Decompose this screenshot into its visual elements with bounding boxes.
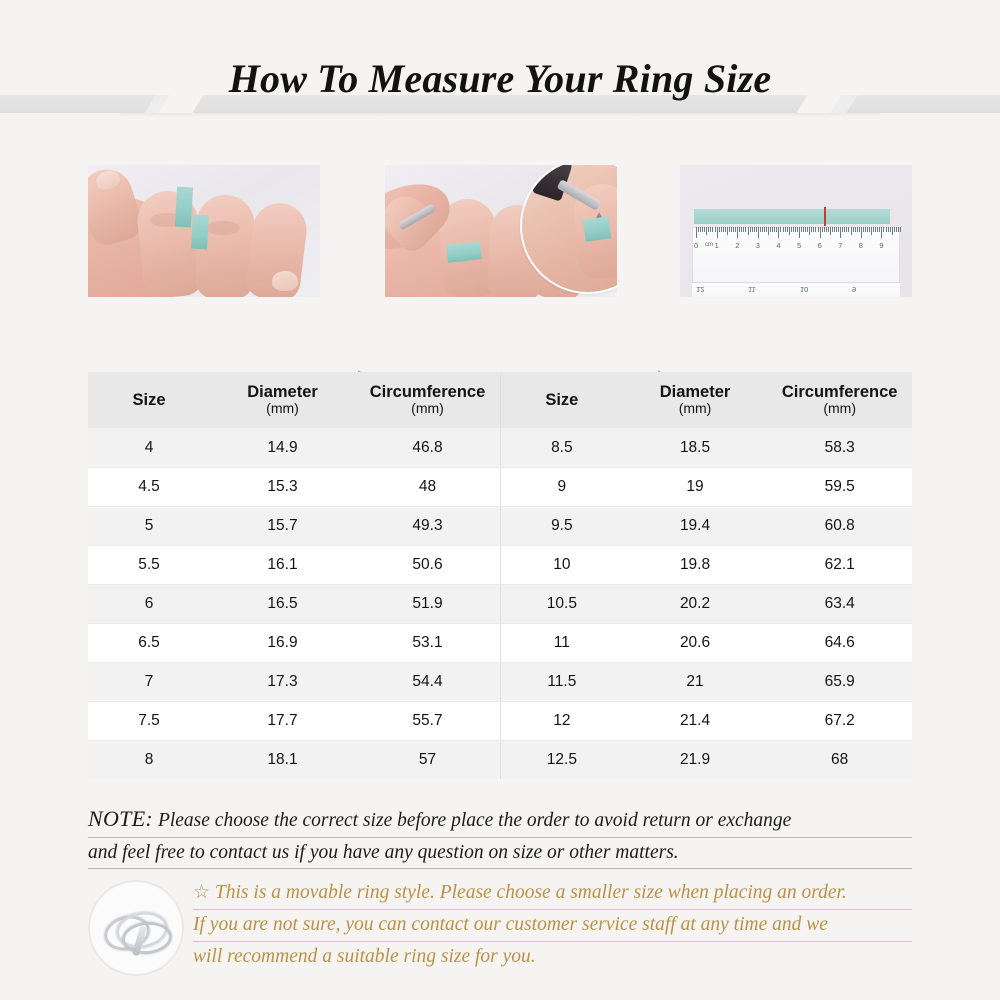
ring-size-table: Size Diameter (mm) Circumference (mm) Si… bbox=[88, 372, 912, 779]
cell-size: 4.5 bbox=[88, 468, 210, 506]
ruler-tick bbox=[883, 227, 884, 232]
cell-circumference: 64.6 bbox=[767, 624, 912, 662]
cell-diameter: 21 bbox=[623, 663, 768, 701]
banner-shadow bbox=[120, 113, 880, 118]
ruler-tick bbox=[873, 227, 874, 232]
ruler-tick bbox=[727, 227, 728, 235]
ruler-tick bbox=[890, 227, 891, 232]
ruler-tick bbox=[799, 227, 800, 238]
ruler-tick bbox=[774, 227, 775, 232]
ruler-tick bbox=[715, 227, 716, 232]
ruler-number-bottom: 11 bbox=[748, 285, 756, 294]
cell-circumference: 50.6 bbox=[355, 546, 500, 584]
row-half-right: 8.518.558.3 bbox=[500, 428, 912, 467]
cell-diameter: 21.4 bbox=[623, 702, 768, 740]
cell-diameter: 20.6 bbox=[623, 624, 768, 662]
ruler-tick bbox=[739, 227, 740, 232]
ruler-tick bbox=[813, 227, 814, 232]
ruler-number: 8 bbox=[859, 241, 863, 250]
cell-circumference: 60.8 bbox=[767, 507, 912, 545]
warning-text-1: This is a movable ring style. Please cho… bbox=[210, 882, 847, 903]
ruler-number: 2 bbox=[735, 241, 739, 250]
instruction-photos: 0123456789cm1211109 bbox=[0, 125, 1000, 345]
ruler-tick bbox=[877, 227, 878, 232]
cell-diameter: 16.9 bbox=[210, 624, 355, 662]
cell-diameter: 16.1 bbox=[210, 546, 355, 584]
cell-diameter: 20.2 bbox=[623, 585, 768, 623]
table-row: 515.749.39.519.460.8 bbox=[88, 506, 912, 545]
cell-size: 8.5 bbox=[501, 428, 623, 467]
ruler-top bbox=[692, 227, 900, 283]
cell-circumference: 59.5 bbox=[767, 468, 912, 506]
ring-product-thumbnail bbox=[88, 880, 184, 976]
cell-size: 7.5 bbox=[88, 702, 210, 740]
ruler-tick bbox=[750, 227, 751, 232]
warning-line-2: If you are not sure, you can contact our… bbox=[193, 910, 912, 942]
cell-diameter: 18.5 bbox=[623, 428, 768, 467]
warning-text: ☆ This is a movable ring style. Please c… bbox=[193, 878, 912, 974]
star-icon: ☆ bbox=[193, 882, 210, 903]
ruler-tick bbox=[772, 227, 773, 232]
cell-circumference: 54.4 bbox=[355, 663, 500, 701]
ruler-tick bbox=[809, 227, 810, 235]
cell-size: 5 bbox=[88, 507, 210, 545]
warning-line-1: ☆ This is a movable ring style. Please c… bbox=[193, 878, 912, 910]
row-half-right: 9.519.460.8 bbox=[500, 507, 912, 545]
row-half-left: 7.517.755.7 bbox=[88, 702, 500, 740]
ruler-tick bbox=[879, 227, 880, 232]
ruler-tick bbox=[797, 227, 798, 232]
step-2-photo-mark-strip bbox=[385, 165, 617, 297]
header-diameter: Diameter (mm) bbox=[210, 372, 355, 428]
ruler-tick bbox=[733, 227, 734, 232]
cell-size: 12.5 bbox=[501, 741, 623, 779]
ruler-tick bbox=[776, 227, 777, 232]
ruler-tick bbox=[865, 227, 866, 232]
row-half-right: 10.520.263.4 bbox=[500, 585, 912, 623]
ruler-tick bbox=[836, 227, 837, 232]
ruler-tick bbox=[789, 227, 790, 235]
ruler-tick bbox=[842, 227, 843, 232]
cell-size: 11.5 bbox=[501, 663, 623, 701]
cell-size: 4 bbox=[88, 428, 210, 467]
ruler-tick bbox=[894, 227, 895, 232]
cell-circumference: 58.3 bbox=[767, 428, 912, 467]
ruler-tick bbox=[846, 227, 847, 232]
ruler-tick bbox=[708, 227, 709, 232]
ruler-tick bbox=[824, 227, 825, 232]
ruler-number: 0 bbox=[694, 241, 698, 250]
note-text-1: Please choose the correct size before pl… bbox=[153, 810, 791, 831]
cell-size: 9.5 bbox=[501, 507, 623, 545]
header-diameter: Diameter (mm) bbox=[623, 372, 768, 428]
row-half-right: 12.521.968 bbox=[500, 741, 912, 779]
page-title: How To Measure Your Ring Size bbox=[0, 55, 1000, 102]
ruler-tick bbox=[752, 227, 753, 232]
ruler-tick bbox=[756, 227, 757, 232]
cell-size: 7 bbox=[88, 663, 210, 701]
ruler-number: 5 bbox=[797, 241, 801, 250]
cell-size: 10 bbox=[501, 546, 623, 584]
header-half-left: Size Diameter (mm) Circumference (mm) bbox=[88, 372, 500, 428]
ruler-tick bbox=[731, 227, 732, 232]
ruler-tick bbox=[702, 227, 703, 232]
ruler-tick bbox=[785, 227, 786, 232]
ruler-tick bbox=[768, 227, 769, 235]
warning-block: ☆ This is a movable ring style. Please c… bbox=[88, 878, 912, 986]
cell-circumference: 51.9 bbox=[355, 585, 500, 623]
note-line-1: NOTE: Please choose the correct size bef… bbox=[88, 802, 912, 838]
ruler-tick bbox=[857, 227, 858, 232]
cell-circumference: 65.9 bbox=[767, 663, 912, 701]
ruler-tick bbox=[818, 227, 819, 232]
cell-size: 6 bbox=[88, 585, 210, 623]
ruler-tick bbox=[886, 227, 887, 232]
ruler-tick bbox=[855, 227, 856, 232]
row-half-left: 818.157 bbox=[88, 741, 500, 779]
ruler-number: 7 bbox=[838, 241, 842, 250]
ruler-tick bbox=[700, 227, 701, 232]
cell-size: 9 bbox=[501, 468, 623, 506]
header-size: Size bbox=[88, 372, 210, 428]
ruler-tick bbox=[793, 227, 794, 232]
cell-circumference: 63.4 bbox=[767, 585, 912, 623]
red-measure-mark bbox=[824, 207, 826, 226]
ruler-tick bbox=[834, 227, 835, 232]
cell-diameter: 15.7 bbox=[210, 507, 355, 545]
ruler-tick bbox=[900, 227, 901, 232]
nail-pinky bbox=[272, 271, 298, 291]
cell-circumference: 55.7 bbox=[355, 702, 500, 740]
row-half-right: 1120.664.6 bbox=[500, 624, 912, 662]
ruler-tick bbox=[766, 227, 767, 232]
ruler-unit-label: cm bbox=[705, 242, 713, 248]
table-body: 414.946.88.518.558.34.515.34891959.5515.… bbox=[88, 428, 912, 779]
ruler-tick bbox=[871, 227, 872, 235]
ruler-tick bbox=[820, 227, 821, 238]
ruler-tick bbox=[712, 227, 713, 232]
ruler-tick bbox=[764, 227, 765, 232]
ruler-number: 3 bbox=[756, 241, 760, 250]
paper-strip bbox=[446, 241, 482, 262]
header-half-right: Size Diameter (mm) Circumference (mm) bbox=[500, 372, 912, 428]
ruler-tick bbox=[869, 227, 870, 232]
cell-size: 10.5 bbox=[501, 585, 623, 623]
cell-circumference: 53.1 bbox=[355, 624, 500, 662]
ruler-bottom bbox=[692, 283, 900, 297]
ruler-tick bbox=[725, 227, 726, 232]
ruler-tick bbox=[748, 227, 749, 235]
cell-circumference: 57 bbox=[355, 741, 500, 779]
ruler-tick bbox=[888, 227, 889, 232]
ruler-tick bbox=[815, 227, 816, 232]
ruler-tick bbox=[853, 227, 854, 232]
ruler-tick bbox=[840, 227, 841, 238]
ruler-tick bbox=[791, 227, 792, 232]
header-circumference: Circumference (mm) bbox=[767, 372, 912, 428]
ring-size-guide-page: How To Measure Your Ring Size bbox=[0, 0, 1000, 1000]
cell-diameter: 21.9 bbox=[623, 741, 768, 779]
ruler-tick bbox=[698, 227, 699, 232]
table-row: 4.515.34891959.5 bbox=[88, 467, 912, 506]
ruler-tick bbox=[861, 227, 862, 238]
paper-strip-lower bbox=[191, 215, 209, 250]
cell-diameter: 17.3 bbox=[210, 663, 355, 701]
ruler-tick bbox=[778, 227, 779, 238]
ruler-tick bbox=[770, 227, 771, 232]
cell-circumference: 49.3 bbox=[355, 507, 500, 545]
ruler-tick bbox=[704, 227, 705, 232]
ruler-tick bbox=[741, 227, 742, 232]
row-half-right: 11.52165.9 bbox=[500, 663, 912, 701]
ruler-tick bbox=[896, 227, 897, 232]
row-half-right: 1019.862.1 bbox=[500, 546, 912, 584]
ruler-tick bbox=[830, 227, 831, 235]
row-half-left: 6.516.953.1 bbox=[88, 624, 500, 662]
note-lead: NOTE: bbox=[88, 806, 153, 831]
cell-diameter: 15.3 bbox=[210, 468, 355, 506]
header-size: Size bbox=[501, 372, 623, 428]
note-line-2: and feel free to contact us if you have … bbox=[88, 838, 912, 870]
ruler-number: 6 bbox=[818, 241, 822, 250]
ruler-tick bbox=[881, 227, 882, 238]
ruler-tick bbox=[851, 227, 852, 235]
ruler-number-bottom: 9 bbox=[852, 285, 856, 294]
ruler-tick bbox=[717, 227, 718, 238]
ruler-tick bbox=[805, 227, 806, 232]
cell-circumference: 68 bbox=[767, 741, 912, 779]
ruler-number-bottom: 12 bbox=[696, 285, 704, 294]
ruler-tick bbox=[867, 227, 868, 232]
cell-size: 11 bbox=[501, 624, 623, 662]
cell-size: 12 bbox=[501, 702, 623, 740]
table-row: 717.354.411.52165.9 bbox=[88, 662, 912, 701]
cell-circumference: 62.1 bbox=[767, 546, 912, 584]
ruler-tick bbox=[758, 227, 759, 238]
ruler-tick bbox=[828, 227, 829, 232]
cell-circumference: 46.8 bbox=[355, 428, 500, 467]
cell-diameter: 18.1 bbox=[210, 741, 355, 779]
ruler-tick bbox=[737, 227, 738, 238]
table-row: 7.517.755.71221.467.2 bbox=[88, 701, 912, 740]
ruler-number-bottom: 10 bbox=[800, 285, 808, 294]
step-1-photo-wrap-strip bbox=[88, 165, 320, 297]
row-half-right: 1221.467.2 bbox=[500, 702, 912, 740]
ruler-tick bbox=[787, 227, 788, 232]
row-half-right: 91959.5 bbox=[500, 468, 912, 506]
row-half-left: 616.551.9 bbox=[88, 585, 500, 623]
cell-diameter: 14.9 bbox=[210, 428, 355, 467]
ruler-tick bbox=[838, 227, 839, 232]
row-half-left: 414.946.8 bbox=[88, 428, 500, 467]
cell-diameter: 17.7 bbox=[210, 702, 355, 740]
cell-size: 5.5 bbox=[88, 546, 210, 584]
ruler-tick bbox=[723, 227, 724, 232]
ruler-tick bbox=[826, 227, 827, 232]
ruler-tick bbox=[844, 227, 845, 232]
cell-circumference: 48 bbox=[355, 468, 500, 506]
ruler-tick bbox=[859, 227, 860, 232]
ruler-tick bbox=[783, 227, 784, 232]
cell-diameter: 19 bbox=[623, 468, 768, 506]
ruler-tick bbox=[754, 227, 755, 232]
table-row: 5.516.150.61019.862.1 bbox=[88, 545, 912, 584]
cell-circumference: 67.2 bbox=[767, 702, 912, 740]
ruler-tick bbox=[743, 227, 744, 232]
ruler-number: 4 bbox=[776, 241, 780, 250]
row-half-left: 515.749.3 bbox=[88, 507, 500, 545]
ruler-tick bbox=[832, 227, 833, 232]
ruler-tick bbox=[719, 227, 720, 232]
ruler-tick bbox=[696, 227, 697, 238]
ruler-number: 1 bbox=[715, 241, 719, 250]
note-block: NOTE: Please choose the correct size bef… bbox=[88, 802, 912, 869]
row-half-left: 4.515.348 bbox=[88, 468, 500, 506]
step-3-photo-measure-ruler: 0123456789cm1211109 bbox=[680, 165, 912, 297]
ruler-tick bbox=[721, 227, 722, 232]
ruler-tick bbox=[780, 227, 781, 232]
ruler-tick bbox=[875, 227, 876, 232]
knuckle-2 bbox=[206, 221, 240, 235]
cell-diameter: 19.4 bbox=[623, 507, 768, 545]
table-row: 616.551.910.520.263.4 bbox=[88, 584, 912, 623]
table-header-row: Size Diameter (mm) Circumference (mm) Si… bbox=[88, 372, 912, 428]
measured-strip bbox=[694, 209, 890, 224]
ruler-tick bbox=[807, 227, 808, 232]
ruler-tick bbox=[762, 227, 763, 232]
ruler-tick bbox=[803, 227, 804, 232]
ruler-tick bbox=[745, 227, 746, 232]
paper-strip-upper bbox=[175, 187, 193, 228]
cell-size: 8 bbox=[88, 741, 210, 779]
ruler-tick bbox=[848, 227, 849, 232]
ruler-tick bbox=[795, 227, 796, 232]
cell-diameter: 19.8 bbox=[623, 546, 768, 584]
ruler-tick bbox=[801, 227, 802, 232]
ruler-tick bbox=[892, 227, 893, 235]
table-row: 6.516.953.11120.664.6 bbox=[88, 623, 912, 662]
ruler-tick bbox=[760, 227, 761, 232]
ruler-tick bbox=[710, 227, 711, 232]
mag-paper-strip bbox=[583, 216, 612, 241]
ruler-number: 9 bbox=[879, 241, 883, 250]
row-half-left: 5.516.150.6 bbox=[88, 546, 500, 584]
cell-diameter: 16.5 bbox=[210, 585, 355, 623]
ruler-tick bbox=[898, 227, 899, 232]
ruler-tick bbox=[735, 227, 736, 232]
ruler-tick bbox=[706, 227, 707, 235]
header-circumference: Circumference (mm) bbox=[355, 372, 500, 428]
table-row: 818.15712.521.968 bbox=[88, 740, 912, 779]
ruler-tick bbox=[811, 227, 812, 232]
ruler-tick bbox=[822, 227, 823, 232]
ruler-tick bbox=[863, 227, 864, 232]
ruler-tick bbox=[729, 227, 730, 232]
warning-line-3: will recommend a suitable ring size for … bbox=[193, 942, 912, 973]
row-half-left: 717.354.4 bbox=[88, 663, 500, 701]
table-row: 414.946.88.518.558.3 bbox=[88, 428, 912, 467]
cell-size: 6.5 bbox=[88, 624, 210, 662]
